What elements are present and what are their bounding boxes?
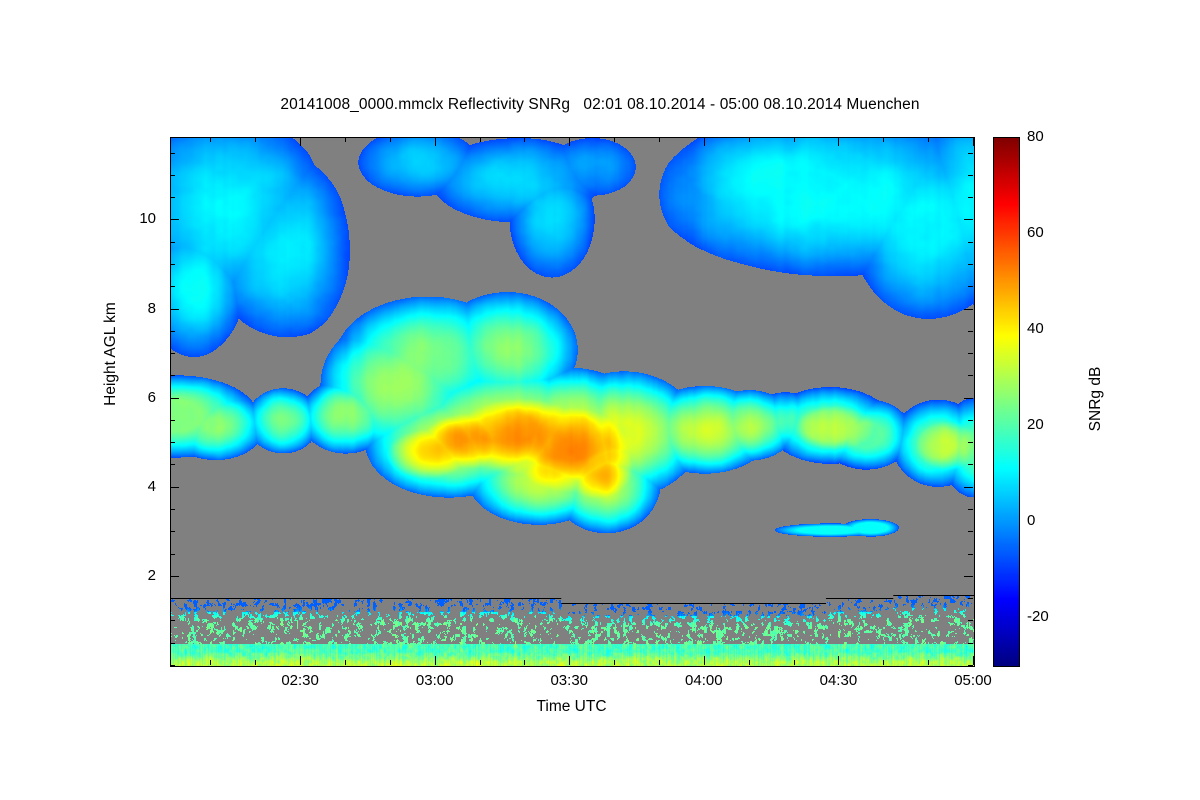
x-minor-tick-top	[749, 137, 750, 142]
x-minor-tick-top	[210, 137, 211, 142]
y-minor-tick	[170, 464, 175, 465]
x-tick-label-04:30: 04:30	[788, 672, 888, 689]
x-minor-tick	[480, 660, 481, 665]
x-major-tick-top	[973, 137, 974, 146]
y-minor-tick	[170, 175, 175, 176]
colorbar-tick-label--20: -20	[1027, 608, 1087, 625]
x-tick-label-02:30: 02:30	[250, 672, 350, 689]
page-title: 20141008_0000.mmclx Reflectivity SNRg 02…	[0, 96, 1200, 114]
y-minor-tick-right	[968, 175, 973, 176]
x-tick-label-04:00: 04:00	[654, 672, 754, 689]
y-minor-tick	[170, 353, 175, 354]
y-minor-tick	[170, 286, 175, 287]
y-minor-tick-right	[968, 643, 973, 644]
colorbar-tick-label-20: 20	[1027, 416, 1087, 433]
y-minor-tick	[170, 531, 175, 532]
x-major-tick	[838, 656, 839, 665]
y-minor-tick	[170, 420, 175, 421]
x-minor-tick-top	[659, 137, 660, 142]
y-minor-tick-right	[968, 353, 973, 354]
x-tick-label-03:00: 03:00	[385, 672, 485, 689]
y-minor-tick	[170, 264, 175, 265]
colorbar-tick-label-60: 60	[1027, 224, 1087, 241]
y-major-tick-right	[964, 398, 973, 399]
y-minor-tick-right	[968, 598, 973, 599]
x-minor-tick	[255, 660, 256, 665]
colorbar[interactable]	[993, 137, 1020, 667]
y-minor-tick-right	[968, 242, 973, 243]
y-major-tick-right	[964, 309, 973, 310]
x-minor-tick	[659, 660, 660, 665]
heatmap-plot-area[interactable]	[170, 137, 975, 667]
y-major-tick	[170, 219, 179, 220]
y-minor-tick	[170, 153, 175, 154]
x-major-tick	[569, 656, 570, 665]
radar-reflectivity-figure: 20141008_0000.mmclx Reflectivity SNRg 02…	[0, 0, 1200, 800]
x-major-tick-top	[569, 137, 570, 146]
y-major-tick	[170, 576, 179, 577]
colorbar-label: SNRg dB	[1087, 279, 1105, 519]
x-minor-tick	[390, 660, 391, 665]
y-minor-tick	[170, 331, 175, 332]
y-axis-label: Height AGL km	[102, 234, 120, 474]
x-axis-label: Time UTC	[170, 698, 973, 716]
x-major-tick	[435, 656, 436, 665]
x-minor-tick	[524, 660, 525, 665]
x-minor-tick	[794, 660, 795, 665]
x-minor-tick	[210, 660, 211, 665]
y-major-tick-right	[964, 219, 973, 220]
y-tick-label-2: 2	[74, 567, 156, 584]
x-minor-tick-top	[794, 137, 795, 142]
y-tick-label-4: 4	[74, 478, 156, 495]
x-minor-tick	[749, 660, 750, 665]
x-minor-tick-top	[524, 137, 525, 142]
x-major-tick-top	[838, 137, 839, 146]
x-tick-label-03:30: 03:30	[519, 672, 619, 689]
y-minor-tick-right	[968, 375, 973, 376]
y-minor-tick-right	[968, 420, 973, 421]
x-minor-tick	[883, 660, 884, 665]
y-minor-tick	[170, 197, 175, 198]
y-minor-tick	[170, 665, 175, 666]
colorbar-tick-label-0: 0	[1027, 512, 1087, 529]
y-major-tick-right	[964, 576, 973, 577]
reflectivity-heatmap-canvas[interactable]	[171, 138, 974, 666]
x-minor-tick-top	[255, 137, 256, 142]
y-minor-tick-right	[968, 153, 973, 154]
x-minor-tick	[928, 660, 929, 665]
x-minor-tick-top	[345, 137, 346, 142]
y-minor-tick-right	[968, 197, 973, 198]
y-major-tick	[170, 309, 179, 310]
y-minor-tick	[170, 554, 175, 555]
y-minor-tick	[170, 509, 175, 510]
x-minor-tick	[345, 660, 346, 665]
x-major-tick-top	[435, 137, 436, 146]
y-minor-tick-right	[968, 531, 973, 532]
x-minor-tick-top	[480, 137, 481, 142]
x-minor-tick-top	[614, 137, 615, 142]
y-minor-tick	[170, 242, 175, 243]
x-minor-tick	[614, 660, 615, 665]
x-major-tick	[973, 656, 974, 665]
y-minor-tick	[170, 620, 175, 621]
y-minor-tick-right	[968, 331, 973, 332]
y-minor-tick	[170, 598, 175, 599]
x-major-tick-top	[704, 137, 705, 146]
y-minor-tick	[170, 442, 175, 443]
x-minor-tick-top	[883, 137, 884, 142]
y-minor-tick-right	[968, 286, 973, 287]
x-major-tick	[300, 656, 301, 665]
x-major-tick-top	[300, 137, 301, 146]
y-major-tick	[170, 398, 179, 399]
y-major-tick	[170, 487, 179, 488]
x-tick-label-05:00: 05:00	[923, 672, 1023, 689]
colorbar-tick-label-40: 40	[1027, 320, 1087, 337]
y-minor-tick-right	[968, 509, 973, 510]
x-minor-tick-top	[390, 137, 391, 142]
y-minor-tick	[170, 375, 175, 376]
y-tick-label-10: 10	[74, 210, 156, 227]
x-major-tick	[704, 656, 705, 665]
y-minor-tick-right	[968, 620, 973, 621]
y-minor-tick-right	[968, 464, 973, 465]
y-minor-tick-right	[968, 554, 973, 555]
x-minor-tick-top	[928, 137, 929, 142]
colorbar-tick-label-80: 80	[1027, 128, 1087, 145]
y-major-tick-right	[964, 487, 973, 488]
colorbar-gradient-canvas	[994, 138, 1019, 666]
y-minor-tick	[170, 643, 175, 644]
y-minor-tick-right	[968, 442, 973, 443]
y-minor-tick-right	[968, 665, 973, 666]
y-minor-tick-right	[968, 264, 973, 265]
